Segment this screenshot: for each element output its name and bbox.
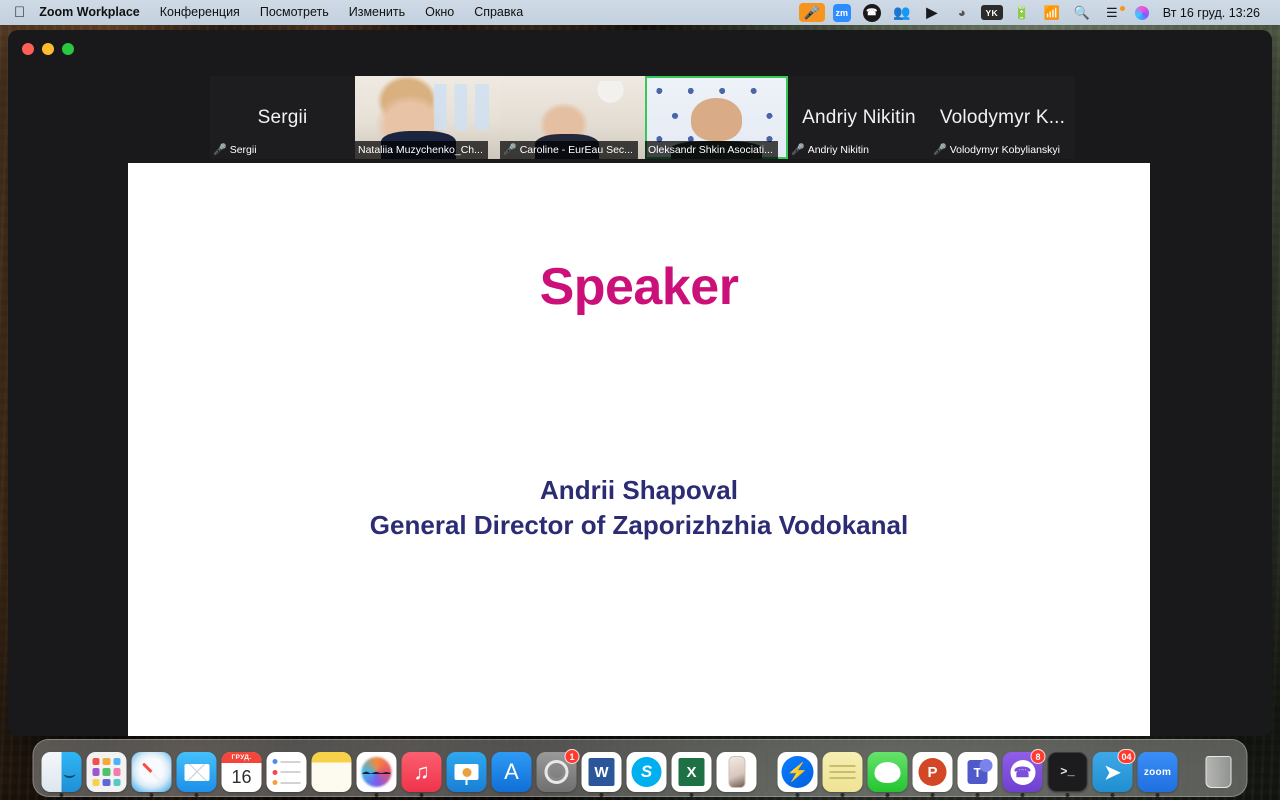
calendar-month-label: ГРУД. xyxy=(222,752,262,763)
microphone-active-icon[interactable]: 🎤 xyxy=(797,0,827,25)
maximize-window-button[interactable] xyxy=(62,43,74,55)
participant-video-figure xyxy=(691,98,742,141)
participant-video-backdrop xyxy=(596,81,625,106)
dock-item-launchpad[interactable] xyxy=(87,752,127,792)
wifi-icon[interactable]: 📶 xyxy=(1037,0,1067,25)
system-settings-badge: 1 xyxy=(565,749,580,764)
mic-muted-icon: 🎤 xyxy=(503,145,517,156)
mic-muted-icon: 🎤 xyxy=(791,145,805,156)
participant-name-bar: Oleksandr Shkin Asociati... xyxy=(645,141,778,159)
skype-glyph: S xyxy=(632,757,662,787)
launchpad-icon xyxy=(87,752,127,792)
mail-icon xyxy=(177,752,217,792)
participant-name-label: Oleksandr Shkin Asociati... xyxy=(648,144,773,156)
menu-app-name[interactable]: Zoom Workplace xyxy=(37,0,149,25)
calendar-day-label: 16 xyxy=(231,763,251,792)
dock-item-notes[interactable] xyxy=(312,752,352,792)
dock-item-reminders[interactable] xyxy=(267,752,307,792)
spotlight-search-icon[interactable]: 🔍 xyxy=(1067,0,1097,25)
macos-dock: ГРУД. 16 ♫ A 1 xyxy=(33,739,1248,797)
dock-item-music[interactable]: ♫ xyxy=(402,752,442,792)
participant-display-name: Andriy Nikitin xyxy=(802,107,916,129)
dock-item-system-settings[interactable]: 1 xyxy=(537,752,577,792)
mic-muted-icon: 🎤 xyxy=(933,145,947,156)
participant-name-bar: Nataliia Muzychenko_Ch... xyxy=(355,141,488,159)
participant-name-bar: 🎤 Andriy Nikitin xyxy=(788,141,874,159)
dock-item-terminal[interactable]: >_ xyxy=(1048,752,1088,792)
menu-conference[interactable]: Конференция xyxy=(150,0,250,25)
trash-icon xyxy=(1199,752,1239,792)
slide-speaker-role: General Director of Zaporizhzhia Vodokan… xyxy=(128,508,1150,543)
slide-speaker-block: Andrii Shapoval General Director of Zapo… xyxy=(128,473,1150,542)
screenshot-status-icon[interactable]: ◕ xyxy=(947,0,977,25)
participant-tile-sergii[interactable]: Sergii 🎤 Sergii xyxy=(210,76,355,159)
dock-item-calendar[interactable]: ГРУД. 16 xyxy=(222,752,262,792)
dock-item-stickies[interactable] xyxy=(823,752,863,792)
participant-tile-volodymyr[interactable]: Volodymyr K... 🎤 Volodymyr Kobylianskyi xyxy=(930,76,1075,159)
apple-menu-icon[interactable]:  xyxy=(0,5,37,20)
terminal-glyph: >_ xyxy=(1060,765,1074,779)
participant-filmstrip: Sergii 🎤 Sergii Nataliia Muzychenko_Ch..… xyxy=(210,76,1065,159)
zoom-icon: zoom xyxy=(1138,752,1178,792)
dock-item-messages[interactable] xyxy=(868,752,908,792)
dock-item-safari[interactable] xyxy=(132,752,172,792)
shared-screen-slide: Speaker Andrii Shapoval General Director… xyxy=(128,163,1150,736)
excel-icon: X xyxy=(672,752,712,792)
control-center-icon[interactable]: ☰ xyxy=(1097,0,1127,25)
stocks-icon xyxy=(357,752,397,792)
notes-icon xyxy=(312,752,352,792)
dock-item-excel[interactable]: X xyxy=(672,752,712,792)
dock-item-telegram[interactable]: ➤ 04 xyxy=(1093,752,1133,792)
slide-title: Speaker xyxy=(128,257,1150,317)
window-traffic-lights xyxy=(22,43,74,55)
messenger-icon: ⚡ xyxy=(778,752,818,792)
participant-display-name: Sergii xyxy=(258,107,308,129)
menu-view[interactable]: Посмотреть xyxy=(250,0,339,25)
powerpoint-glyph: P xyxy=(919,758,947,786)
powerpoint-icon: P xyxy=(913,752,953,792)
media-play-icon[interactable]: ▶ xyxy=(917,0,947,25)
dock-separator xyxy=(767,750,768,792)
skype-icon: S xyxy=(627,752,667,792)
participant-name-label: Sergii xyxy=(230,144,257,156)
dock-item-zoom[interactable]: zoom xyxy=(1138,752,1178,792)
menu-window[interactable]: Окно xyxy=(415,0,464,25)
messages-icon xyxy=(868,752,908,792)
calendar-icon: ГРУД. 16 xyxy=(222,752,262,792)
dock-item-iphone-mirroring[interactable] xyxy=(717,752,757,792)
dock-item-finder[interactable] xyxy=(42,752,82,792)
reminders-icon xyxy=(267,752,307,792)
close-window-button[interactable] xyxy=(22,43,34,55)
dock-item-trash[interactable] xyxy=(1199,752,1239,792)
participant-name-bar: 🎤 Sergii xyxy=(210,141,262,159)
dock-separator-trash xyxy=(1188,750,1189,792)
yk-status-icon[interactable]: YK xyxy=(977,0,1007,25)
menu-bar-clock[interactable]: Вт 16 груд. 13:26 xyxy=(1157,6,1272,20)
menu-bar-status-tray: 🎤 zm ☎ 👥 ▶ ◕ YK 🔋 📶 🔍 ☰ Вт 16 груд. 13:2… xyxy=(797,0,1280,25)
dock-item-word[interactable]: W xyxy=(582,752,622,792)
music-icon: ♫ xyxy=(402,752,442,792)
stickies-icon xyxy=(823,752,863,792)
zoom-glyph: zoom xyxy=(1144,767,1171,778)
teams-status-icon[interactable]: 👥 xyxy=(887,0,917,25)
excel-glyph: X xyxy=(679,758,705,786)
dock-item-powerpoint[interactable]: P xyxy=(913,752,953,792)
participant-name-label: Andriy Nikitin xyxy=(808,144,869,156)
participant-name-label: Volodymyr Kobylianskyi xyxy=(950,144,1060,156)
keynote-icon xyxy=(447,752,487,792)
zoom-status-icon[interactable]: zm xyxy=(827,0,857,25)
viber-badge: 8 xyxy=(1031,749,1046,764)
participant-tile-oleksandr-active-speaker[interactable]: Oleksandr Shkin Asociati... xyxy=(645,76,788,159)
dock-item-mail[interactable] xyxy=(177,752,217,792)
finder-icon xyxy=(42,752,82,792)
battery-icon[interactable]: 🔋 xyxy=(1007,0,1037,25)
dock-item-app-store[interactable]: A xyxy=(492,752,532,792)
dock-item-keynote[interactable] xyxy=(447,752,487,792)
telegram-badge: 04 xyxy=(1117,749,1135,764)
participant-name-bar: 🎤 Caroline - EurEau Sec... xyxy=(500,141,638,159)
participant-name-label: Caroline - EurEau Sec... xyxy=(520,144,633,156)
teams-icon: T xyxy=(958,752,998,792)
safari-icon xyxy=(132,752,172,792)
participant-tile-caroline[interactable]: 🎤 Caroline - EurEau Sec... xyxy=(500,76,645,159)
mic-muted-icon: 🎤 xyxy=(213,145,227,156)
dock-item-skype[interactable]: S xyxy=(627,752,667,792)
participant-tile-andriy[interactable]: Andriy Nikitin 🎤 Andriy Nikitin xyxy=(788,76,930,159)
terminal-icon: >_ xyxy=(1048,752,1088,792)
participant-tile-nataliia[interactable]: Nataliia Muzychenko_Ch... xyxy=(355,76,500,159)
dock-item-stocks[interactable] xyxy=(357,752,397,792)
participant-name-bar: 🎤 Volodymyr Kobylianskyi xyxy=(930,141,1065,159)
dock-item-messenger[interactable]: ⚡ xyxy=(778,752,818,792)
minimize-window-button[interactable] xyxy=(42,43,54,55)
app-store-icon: A xyxy=(492,752,532,792)
participant-display-name: Volodymyr K... xyxy=(940,107,1065,129)
menu-help[interactable]: Справка xyxy=(464,0,533,25)
dock-item-viber[interactable]: ☎ 8 xyxy=(1003,752,1043,792)
zoom-meeting-window: Sergii 🎤 Sergii Nataliia Muzychenko_Ch..… xyxy=(8,30,1272,736)
slide-speaker-name: Andrii Shapoval xyxy=(128,473,1150,508)
participant-name-label: Nataliia Muzychenko_Ch... xyxy=(358,144,483,156)
macos-menu-bar:  Zoom Workplace Конференция Посмотреть … xyxy=(0,0,1280,25)
viber-status-icon[interactable]: ☎ xyxy=(857,0,887,25)
dock-item-teams[interactable]: T xyxy=(958,752,998,792)
word-glyph: W xyxy=(589,758,615,786)
iphone-mirroring-icon xyxy=(717,752,757,792)
word-icon: W xyxy=(582,752,622,792)
siri-icon[interactable] xyxy=(1127,0,1157,25)
menu-edit[interactable]: Изменить xyxy=(339,0,415,25)
